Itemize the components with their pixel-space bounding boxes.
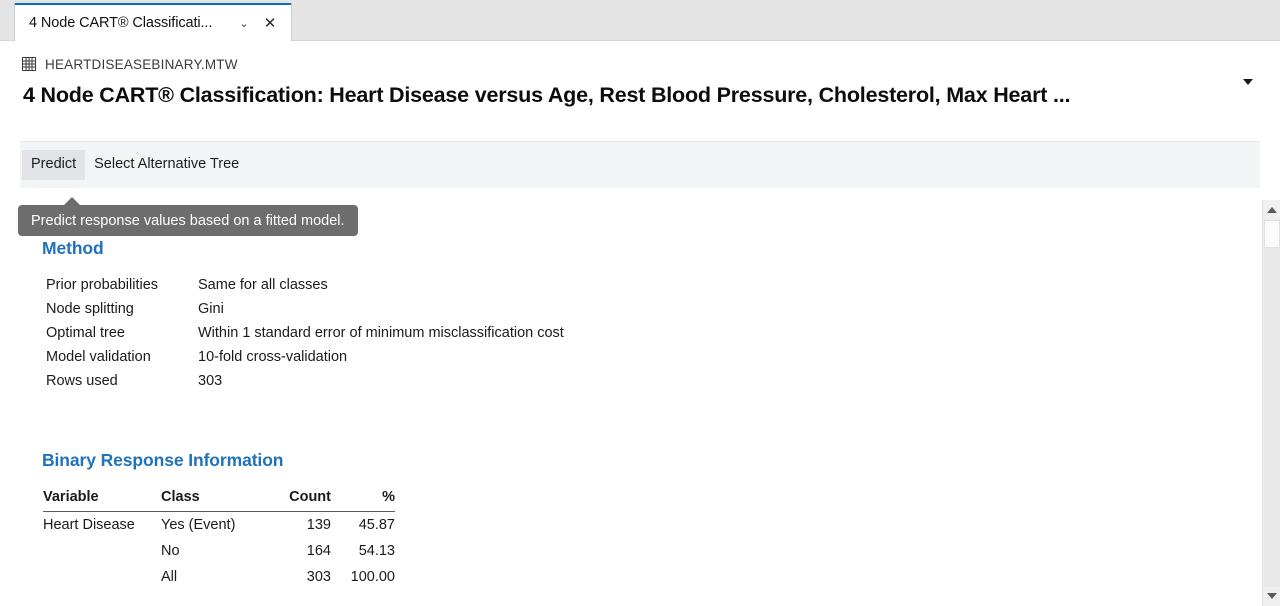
cell-class: No <box>161 538 269 564</box>
tooltip-arrow <box>63 197 81 206</box>
method-key: Optimal tree <box>46 324 198 348</box>
table-row: No 164 54.13 <box>43 538 395 564</box>
cell-percent: 45.87 <box>331 512 395 539</box>
cell-class: All <box>161 564 269 590</box>
binary-response-table: Variable Class Count % Heart Disease Yes… <box>43 488 395 590</box>
scroll-up-arrow-icon <box>1267 207 1277 213</box>
section-heading-binary-response: Binary Response Information <box>42 450 283 471</box>
scroll-down-button[interactable] <box>1264 587 1280 605</box>
method-value: 10-fold cross-validation <box>198 348 564 372</box>
cell-count: 164 <box>269 538 331 564</box>
tab-strip: 4 Node CART® Classificati... ⌄ ✕ <box>0 0 1280 41</box>
method-table: Prior probabilities Same for all classes… <box>46 276 564 396</box>
cell-percent: 54.13 <box>331 538 395 564</box>
cell-percent: 100.00 <box>331 564 395 590</box>
table-row: Heart Disease Yes (Event) 139 45.87 <box>43 512 395 539</box>
worksheet-name[interactable]: HEARTDISEASEBINARY.MTW <box>45 57 238 72</box>
scroll-thumb[interactable] <box>1264 220 1280 248</box>
scroll-up-button[interactable] <box>1264 201 1280 219</box>
cell-variable <box>43 564 161 590</box>
vertical-scrollbar[interactable] <box>1262 200 1280 606</box>
method-value: Within 1 standard error of minimum miscl… <box>198 324 564 348</box>
method-key: Model validation <box>46 348 198 372</box>
scrollbar-track[interactable] <box>1264 219 1280 587</box>
cell-variable: Heart Disease <box>43 512 161 539</box>
page-title: 4 Node CART® Classification: Heart Disea… <box>23 83 1070 108</box>
column-header-count: Count <box>269 488 331 512</box>
worksheet-row: HEARTDISEASEBINARY.MTW <box>0 52 238 76</box>
table-row: Optimal tree Within 1 standard error of … <box>46 324 564 348</box>
column-header-class: Class <box>161 488 269 512</box>
cell-count: 303 <box>269 564 331 590</box>
method-key: Rows used <box>46 372 198 396</box>
cell-count: 139 <box>269 512 331 539</box>
method-key: Prior probabilities <box>46 276 198 300</box>
method-value: 303 <box>198 372 564 396</box>
column-header-variable: Variable <box>43 488 161 512</box>
table-row: Rows used 303 <box>46 372 564 396</box>
caret-down-icon[interactable] <box>1240 73 1256 89</box>
method-value: Same for all classes <box>198 276 564 300</box>
method-value: Gini <box>198 300 564 324</box>
worksheet-grid-icon <box>22 57 36 71</box>
tooltip-text: Predict response values based on a fitte… <box>31 213 345 229</box>
table-row: All 303 100.00 <box>43 564 395 590</box>
toolbar-item-select-alternative-tree[interactable]: Select Alternative Tree <box>85 150 248 180</box>
tab-report[interactable]: 4 Node CART® Classificati... ⌄ ✕ <box>14 3 292 41</box>
toolbar-item-predict[interactable]: Predict <box>22 150 85 180</box>
method-key: Node splitting <box>46 300 198 324</box>
cell-class: Yes (Event) <box>161 512 269 539</box>
cell-variable <box>43 538 161 564</box>
table-header-row: Variable Class Count % <box>43 488 395 512</box>
column-header-percent: % <box>331 488 395 512</box>
tab-title: 4 Node CART® Classificati... <box>29 15 212 31</box>
section-heading-method: Method <box>42 238 104 259</box>
table-row: Node splitting Gini <box>46 300 564 324</box>
chevron-down-icon[interactable]: ⌄ <box>237 17 251 31</box>
report-toolbar: Predict Select Alternative Tree <box>20 141 1260 188</box>
table-row: Prior probabilities Same for all classes <box>46 276 564 300</box>
scroll-down-arrow-icon <box>1267 593 1277 599</box>
tooltip-predict: Predict response values based on a fitte… <box>18 205 358 236</box>
table-row: Model validation 10-fold cross-validatio… <box>46 348 564 372</box>
close-icon[interactable]: ✕ <box>263 15 277 31</box>
